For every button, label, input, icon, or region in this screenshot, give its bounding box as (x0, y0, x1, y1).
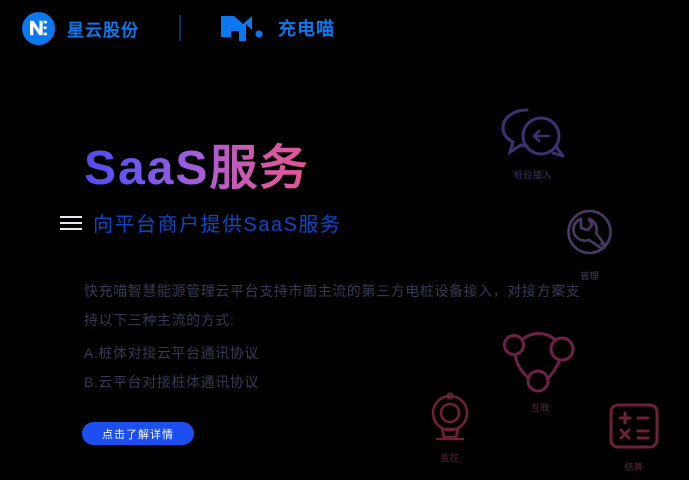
chat-bubbles-arrow-icon (497, 104, 569, 165)
learn-more-button[interactable]: 点击了解详情 (82, 422, 194, 445)
brand-secondary-name: 充电喵 (278, 15, 335, 41)
hamburger-menu-icon (60, 216, 82, 230)
network-nodes-icon (503, 327, 578, 398)
subtitle-row: 向平台商户提供SaaS服务 (60, 208, 341, 237)
feature-label: 结算 (624, 460, 643, 473)
feature-management: 管理 (562, 206, 617, 282)
calculator-icon (607, 402, 661, 457)
page-title: SaaS服务 (84, 128, 309, 198)
feature-network: 互联 (503, 327, 578, 414)
feature-billing: 结算 (607, 402, 661, 473)
feature-pile-access: 桩位接入 (497, 104, 569, 181)
chargecat-logo-icon (219, 15, 269, 42)
feature-label: 监控 (440, 451, 459, 464)
camera-monitor-icon (425, 391, 475, 448)
feature-monitoring: 监控 (425, 391, 475, 464)
wrench-circle-icon (562, 206, 617, 266)
page-subtitle: 向平台商户提供SaaS服务 (93, 208, 341, 237)
brand-primary-name: 星云股份 (67, 16, 139, 41)
brand-secondary[interactable]: 充电喵 (219, 15, 335, 42)
feature-label: 桩位接入 (514, 168, 552, 181)
brand-primary[interactable]: 星云股份 (22, 12, 139, 45)
feature-label: 互联 (531, 401, 550, 414)
feature-label: 管理 (580, 269, 599, 282)
page-header: 星云股份 充电喵 (0, 0, 689, 56)
nebula-ne-logo-icon (22, 12, 55, 45)
header-divider (179, 15, 181, 41)
